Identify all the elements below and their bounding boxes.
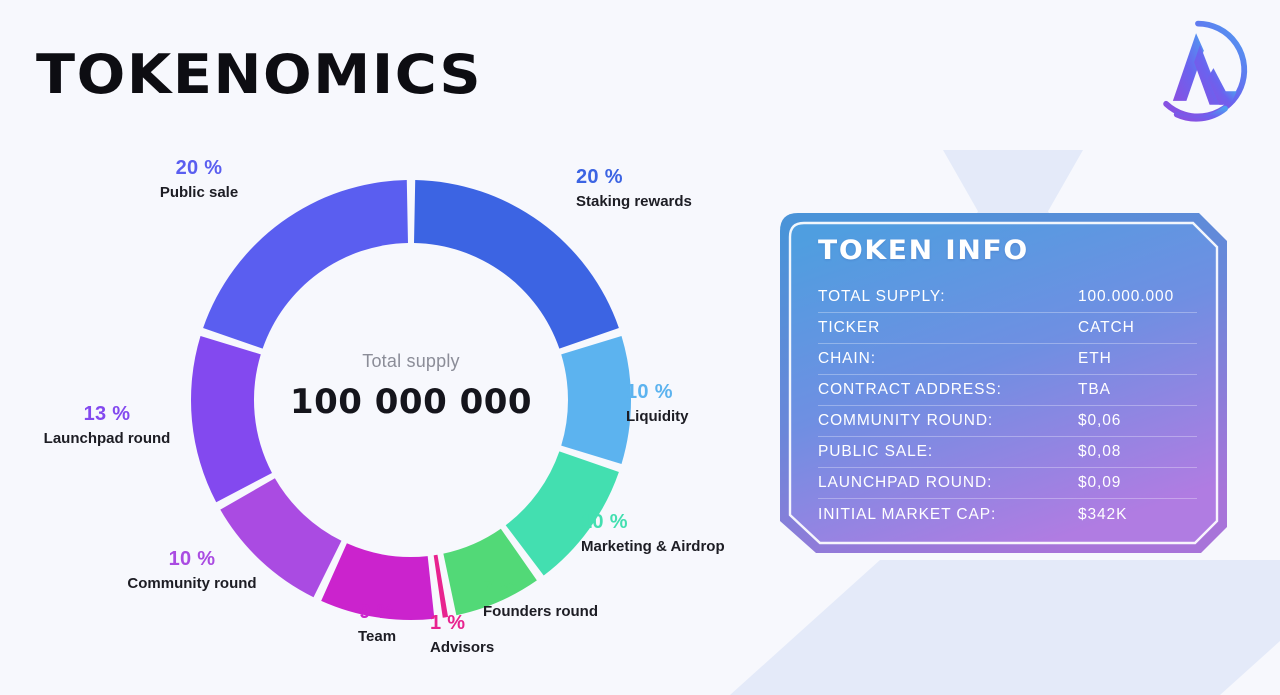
token-info-row-list: TOTAL SUPPLY:100.000.000TICKERCATCHCHAIN…	[818, 282, 1197, 530]
callout-label: Staking rewards	[576, 191, 692, 212]
callout-marketing-airdrop: 10 % Marketing & Airdrop	[581, 511, 725, 557]
token-info-row-value: $0,09	[1078, 474, 1197, 492]
callout-label: Founders round	[483, 601, 598, 622]
callout-percent: 1 %	[430, 612, 494, 635]
callout-team: 9 % Team	[358, 601, 396, 647]
page-title: TOKENOMICS	[36, 46, 482, 104]
donut-center-value: 100 000 000	[290, 382, 532, 422]
callout-liquidity: 10 % Liquidity	[626, 381, 689, 427]
callout-percent: 7 %	[483, 576, 598, 599]
callout-launchpad-round: 13 % Launchpad round	[44, 403, 171, 449]
callout-label: Marketing & Airdrop	[581, 536, 725, 557]
callout-label: Launchpad round	[44, 428, 171, 449]
token-info-row: CHAIN:ETH	[818, 344, 1197, 375]
callout-percent: 20 %	[576, 166, 692, 189]
token-info-row-value: CATCH	[1078, 319, 1197, 337]
token-info-row-value: $0,06	[1078, 412, 1197, 430]
callout-label: Public sale	[160, 182, 238, 203]
token-info-row: TICKERCATCH	[818, 313, 1197, 344]
token-info-row-value: 100.000.000	[1078, 288, 1197, 306]
token-info-row: INITIAL MARKET CAP:$342K	[818, 499, 1197, 530]
callout-public-sale: 20 % Public sale	[160, 157, 238, 203]
callout-community-round: 10 % Community round	[127, 548, 256, 594]
token-info-row: LAUNCHPAD ROUND:$0,09	[818, 468, 1197, 499]
callout-percent: 10 %	[127, 548, 256, 571]
callout-label: Liquidity	[626, 406, 689, 427]
token-info-row-label: TICKER	[818, 319, 1078, 337]
donut-slice-launchpad-round	[191, 336, 272, 502]
donut-slice-liquidity	[561, 336, 631, 464]
tokenomics-slide: TOKENOMICS Total supply 100 000 000 20 %…	[0, 0, 1280, 695]
ring-mountain-logo-icon	[1140, 12, 1256, 128]
callout-staking-rewards: 20 % Staking rewards	[576, 166, 692, 212]
token-info-row-label: TOTAL SUPPLY:	[818, 288, 1078, 306]
callout-percent: 10 %	[581, 511, 725, 534]
callout-label: Community round	[127, 573, 256, 594]
token-info-row-value: ETH	[1078, 350, 1197, 368]
token-info-card: TOKEN INFO TOTAL SUPPLY:100.000.000TICKE…	[776, 209, 1231, 557]
token-info-row-value: TBA	[1078, 381, 1197, 399]
token-info-row-value: $342K	[1078, 506, 1197, 524]
callout-founders-round: 7 % Founders round	[483, 576, 598, 622]
token-info-row: COMMUNITY ROUND:$0,06	[818, 406, 1197, 437]
callout-percent: 9 %	[358, 601, 396, 624]
token-info-row: TOTAL SUPPLY:100.000.000	[818, 282, 1197, 313]
token-info-row-label: COMMUNITY ROUND:	[818, 412, 1078, 430]
donut-slice-public-sale	[203, 180, 408, 349]
callout-label: Advisors	[430, 637, 494, 658]
token-info-heading: TOKEN INFO	[818, 235, 1212, 266]
callout-label: Team	[358, 626, 396, 647]
callout-percent: 20 %	[160, 157, 238, 180]
donut-center-caption: Total supply	[362, 351, 459, 372]
token-info-row-label: PUBLIC SALE:	[818, 443, 1078, 461]
token-info-row-label: INITIAL MARKET CAP:	[818, 506, 1078, 524]
token-info-row-label: LAUNCHPAD ROUND:	[818, 474, 1078, 492]
callout-percent: 13 %	[44, 403, 171, 426]
token-info-row-label: CONTRACT ADDRESS:	[818, 381, 1078, 399]
token-info-row: PUBLIC SALE:$0,08	[818, 437, 1197, 468]
callout-percent: 10 %	[626, 381, 689, 404]
token-info-row: CONTRACT ADDRESS:TBA	[818, 375, 1197, 406]
callout-advisors: 1 % Advisors	[430, 612, 494, 658]
token-info-row-value: $0,08	[1078, 443, 1197, 461]
token-info-row-label: CHAIN:	[818, 350, 1078, 368]
